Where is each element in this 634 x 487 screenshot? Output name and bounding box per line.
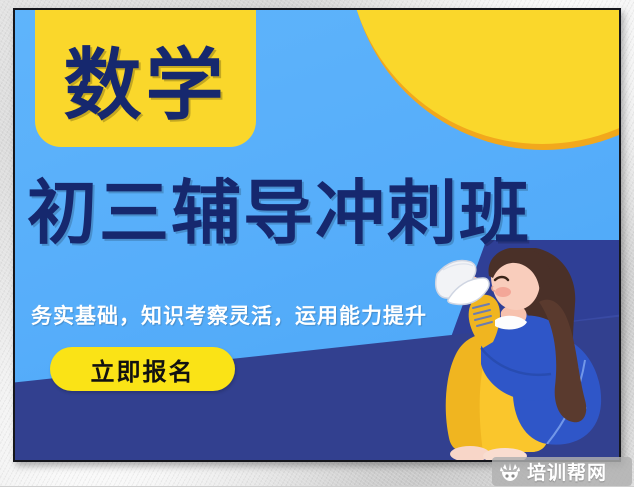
- subject-badge-label: 数学: [63, 47, 227, 147]
- girl-reading-book-illustration: [427, 248, 621, 462]
- subject-badge: 数学: [35, 8, 256, 147]
- site-watermark: 培训帮网: [492, 457, 632, 486]
- page-title: 初三辅导冲刺班: [27, 178, 611, 248]
- watermark-label: 培训帮网: [527, 458, 607, 485]
- cheek-blush: [495, 287, 511, 297]
- poster-subtitle: 务实基础，知识考察灵活，运用能力提升: [31, 305, 427, 328]
- enroll-now-button[interactable]: 立即报名: [50, 347, 235, 391]
- course-poster: 数学 初三辅导冲刺班 务实基础，知识考察灵活，运用能力提升 立即报名: [13, 8, 621, 462]
- enroll-now-button-label: 立即报名: [91, 352, 195, 387]
- sun-face-icon: [499, 462, 521, 482]
